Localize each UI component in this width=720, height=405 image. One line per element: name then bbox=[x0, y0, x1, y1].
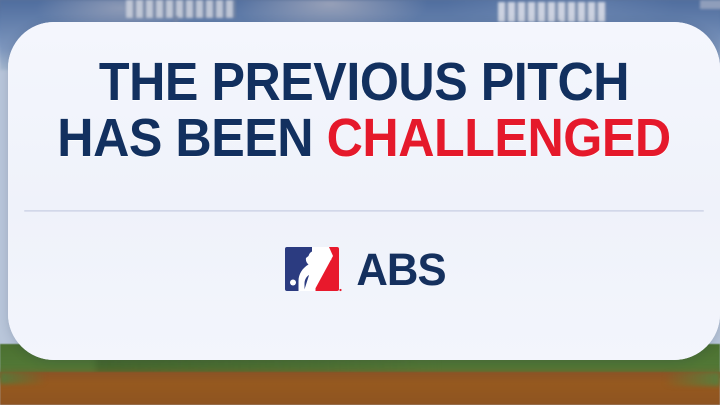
card-divider bbox=[24, 210, 704, 212]
infield-dirt bbox=[0, 372, 720, 405]
infield-grass-right bbox=[664, 372, 720, 386]
stadium-light-tower-icon bbox=[126, 0, 236, 18]
mlb-logo bbox=[281, 246, 343, 292]
stadium-light-tower-icon-2 bbox=[498, 2, 606, 22]
challenge-announcement-card: THE PREVIOUS PITCH HAS BEEN CHALLENGED A bbox=[8, 22, 720, 360]
infield-grass-left bbox=[0, 372, 46, 384]
headline-line-2: HAS BEEN CHALLENGED bbox=[33, 112, 695, 165]
broadcast-overlay-screen: THE PREVIOUS PITCH HAS BEEN CHALLENGED A bbox=[0, 0, 720, 405]
branding-row: ABS bbox=[8, 246, 720, 292]
abs-label: ABS bbox=[356, 247, 445, 292]
headline-line-2-prefix: HAS BEEN bbox=[57, 108, 313, 168]
headline-highlight-challenged: CHALLENGED bbox=[327, 108, 671, 168]
stadium-light-tower-icon-3 bbox=[700, 0, 720, 9]
headline-line-1: THE PREVIOUS PITCH bbox=[33, 56, 695, 109]
headline-block: THE PREVIOUS PITCH HAS BEEN CHALLENGED bbox=[8, 56, 720, 165]
